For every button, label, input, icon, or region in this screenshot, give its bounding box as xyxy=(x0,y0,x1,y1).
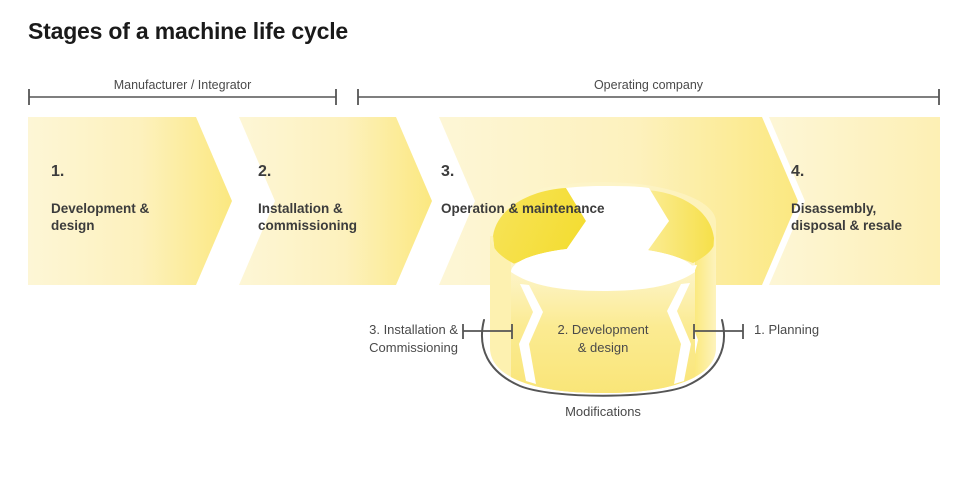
cycle-label-planning: 1. Planning xyxy=(754,321,819,339)
stage-label-1: 1. Development & design xyxy=(51,146,149,234)
stage-text-2: Installation & commissioning xyxy=(258,201,357,233)
cycle-label-modifications: Modifications xyxy=(513,403,693,421)
ring-top-opening xyxy=(511,247,695,297)
stage-number-1: 1. xyxy=(51,163,149,180)
stage-text-4: Disassembly, disposal & resale xyxy=(791,201,902,233)
ring-wall-left-outer xyxy=(490,236,511,377)
bracket-label-manufacturer-integrator: Manufacturer / Integrator xyxy=(28,78,337,92)
stage-number-3: 3. xyxy=(441,163,605,180)
page-title: Stages of a machine life cycle xyxy=(28,18,348,45)
stage-label-3: 3. Operation & maintenance xyxy=(441,146,605,217)
ring-inner-shade xyxy=(511,247,695,297)
diagram-lines xyxy=(0,0,969,485)
ring-wall-right xyxy=(695,238,716,377)
stage-number-2: 2. xyxy=(258,163,357,180)
stage-text-1: Development & design xyxy=(51,201,149,233)
stage-label-2: 2. Installation & commissioning xyxy=(258,146,357,234)
cycle-label-installation-commissioning: 3. Installation & Commissioning xyxy=(336,321,458,357)
bracket-label-operating-company: Operating company xyxy=(358,78,939,92)
stage-label-4: 4. Disassembly, disposal & resale xyxy=(791,146,902,234)
ring-wall-left xyxy=(490,236,497,348)
stage-number-4: 4. xyxy=(791,163,902,180)
bracket-planning xyxy=(694,324,743,339)
diagram-canvas: Stages of a machine life cycle xyxy=(0,0,969,485)
bracket-installation-commissioning xyxy=(463,324,512,339)
stage-text-3: Operation & maintenance xyxy=(441,201,605,216)
ring-segment-right-top xyxy=(646,190,714,274)
cycle-label-development-design: 2. Development & design xyxy=(513,321,693,357)
